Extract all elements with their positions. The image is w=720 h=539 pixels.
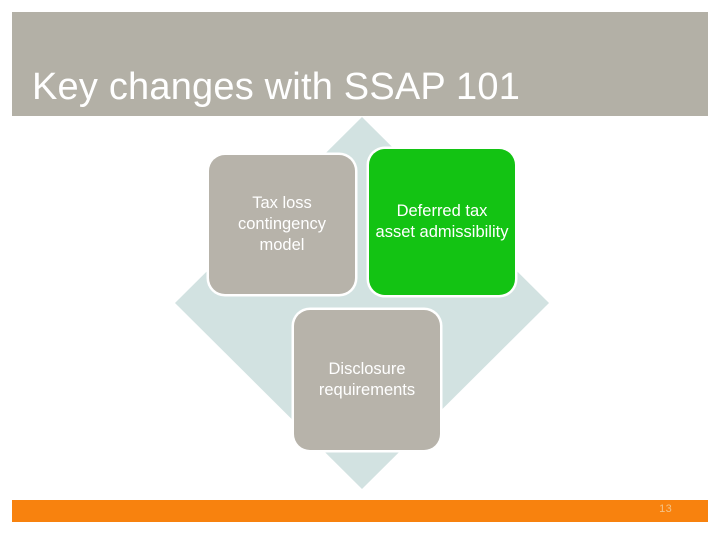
- diagram-node-disclosure[interactable]: Disclosure requirements: [294, 310, 440, 450]
- diagram-node-label: Deferred tax asset admissibility: [369, 201, 515, 243]
- slide-title: Key changes with SSAP 101: [32, 68, 520, 108]
- diagram-node-label: Tax loss contingency model: [209, 193, 355, 256]
- title-banner: Key changes with SSAP 101: [12, 12, 708, 116]
- diagram-node-tax-loss[interactable]: Tax loss contingency model: [209, 155, 355, 294]
- page-number: 13: [659, 503, 672, 515]
- footer-accent-bar: [12, 500, 708, 522]
- slide-canvas: Key changes with SSAP 101 Tax loss conti…: [0, 0, 720, 539]
- diagram-node-deferred-tax[interactable]: Deferred tax asset admissibility: [369, 149, 515, 295]
- diagram-node-label: Disclosure requirements: [294, 359, 440, 401]
